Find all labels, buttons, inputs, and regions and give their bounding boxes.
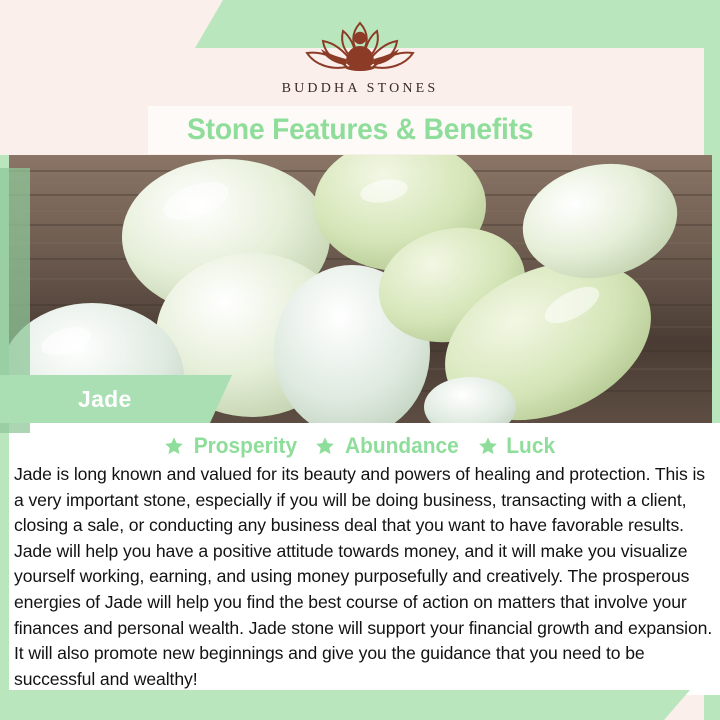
stone-description: Jade is long known and valued for its be… [14, 462, 714, 692]
benefit-item: Abundance [315, 433, 462, 459]
benefit-label: Abundance [345, 433, 459, 459]
stone-name-banner: Jade [0, 375, 232, 423]
benefit-item: Luck [478, 433, 556, 459]
page-title-strip: Stone Features & Benefits [148, 106, 572, 154]
star-icon [164, 436, 184, 456]
benefit-item: Prosperity [164, 433, 300, 459]
brand-name: BUDDHA STONES [282, 81, 439, 97]
brand-header: BUDDHA STONES [0, 0, 720, 112]
benefit-label: Luck [506, 433, 555, 459]
lotus-meditation-icon [285, 15, 435, 77]
decorative-band-bottom [0, 690, 690, 720]
star-icon [478, 436, 498, 456]
benefits-row: Prosperity Abundance Luck [0, 430, 720, 462]
stone-name-label: Jade [78, 386, 132, 413]
page-title: Stone Features & Benefits [187, 113, 533, 147]
star-icon [315, 436, 335, 456]
benefit-label: Prosperity [193, 433, 296, 459]
